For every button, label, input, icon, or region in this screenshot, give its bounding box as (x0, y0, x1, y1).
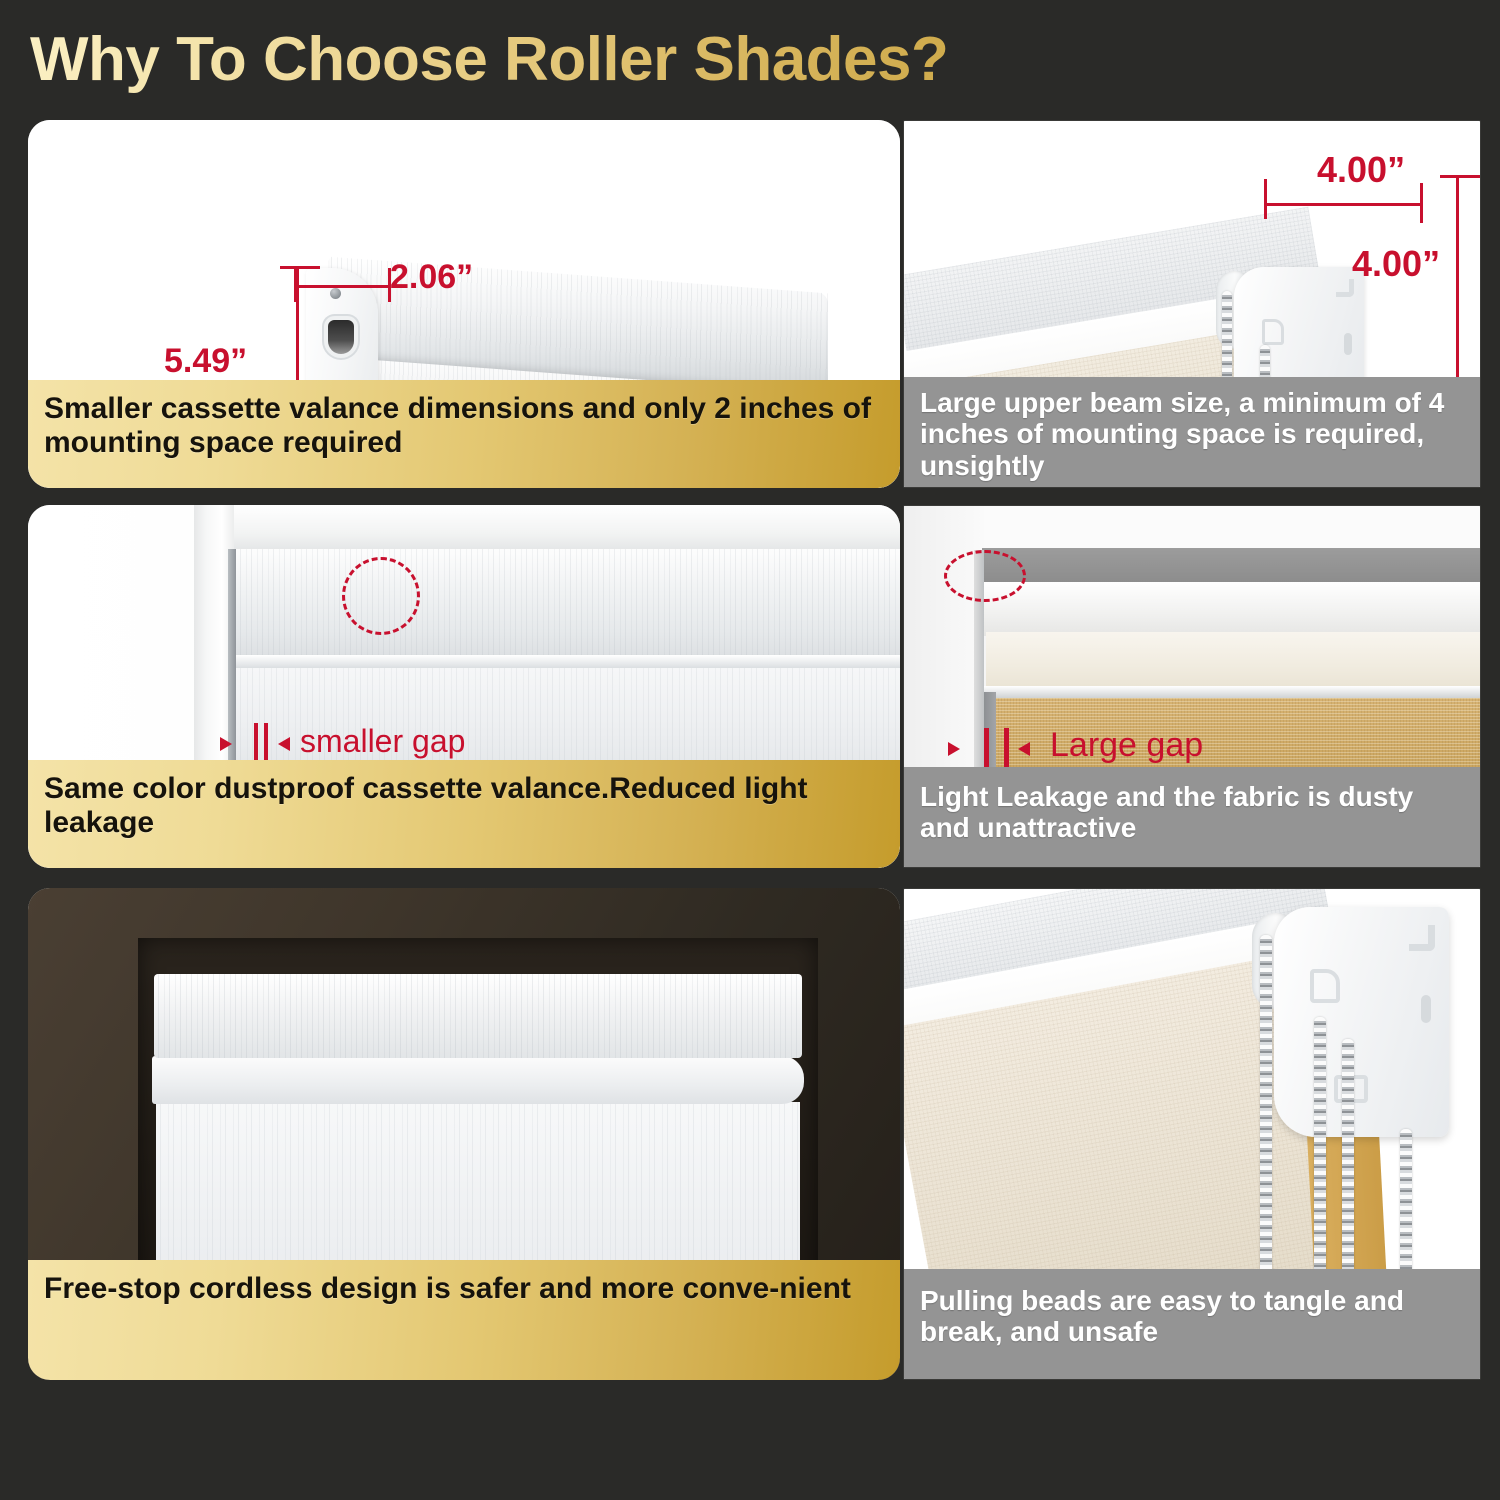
end-cap-slot (328, 320, 354, 354)
beam-width-label: 4.00” (1317, 149, 1405, 191)
bead-chain-left (1260, 935, 1272, 1277)
leak-valance (986, 632, 1480, 688)
gap-marker-right (1004, 728, 1009, 770)
cassette-valance-front (236, 549, 900, 659)
bead-chain-right (1400, 1129, 1412, 1277)
caption-pulling-beads: Pulling beads are easy to tangle and bre… (904, 1269, 1480, 1379)
gap-arrow-right-icon (1018, 742, 1030, 756)
height-dimension-label: 5.49” (164, 342, 247, 381)
caption-light-leakage: Light Leakage and the fabric is dusty an… (904, 767, 1480, 867)
infographic-root: Why To Choose Roller Shades? 2.06” 5.49” (0, 0, 1500, 1500)
panel-dustproof-cassette: smaller gap Same color dustproof cassett… (28, 505, 900, 868)
bead-chain-middle (1314, 1017, 1326, 1277)
leak-wall (904, 506, 984, 776)
bead-chain-middle-2 (1342, 1039, 1354, 1277)
gap-marker-left (984, 728, 989, 770)
valance-lip (232, 655, 900, 669)
beam-width-tick-right (1420, 183, 1423, 223)
highlight-circle-icon (342, 557, 420, 635)
leak-head-rail (982, 582, 1480, 636)
shade-roller (152, 1056, 804, 1104)
caption-large-upper-beam: Large upper beam size, a minimum of 4 in… (904, 377, 1480, 487)
smaller-gap-label: smaller gap (300, 723, 465, 760)
large-gap-label: Large gap (1050, 726, 1203, 765)
leak-valance-lip (982, 686, 1480, 698)
caption-free-stop-cordless: Free-stop cordless design is safer and m… (28, 1260, 900, 1380)
gap-marker-right (264, 723, 268, 763)
beam-width-tick-left (1264, 179, 1267, 219)
shade-cassette (154, 974, 802, 1058)
caption-cassette-valance: Smaller cassette valance dimensions and … (28, 380, 900, 488)
beam-height-label: 4.00” (1352, 243, 1440, 285)
page-title: Why To Choose Roller Shades? (30, 20, 1090, 100)
beam-height-tick-top (1440, 175, 1480, 178)
window-header (194, 505, 900, 553)
width-dimension-line (296, 285, 391, 288)
highlight-circle-icon (944, 550, 1026, 602)
gap-arrow-right-icon (278, 737, 290, 751)
gap-arrow-left-icon (220, 737, 232, 751)
height-dimension-tick-top (280, 266, 320, 269)
width-dimension-label: 2.06” (390, 258, 473, 297)
panel-light-leakage: Large gap Light Leakage and the fabric i… (903, 505, 1481, 868)
panel-free-stop-cordless: Free-stop cordless design is safer and m… (28, 888, 900, 1380)
gap-arrow-left-icon (948, 742, 960, 756)
panel-cassette-valance: 2.06” 5.49” Smaller cassette valance dim… (28, 120, 900, 488)
beam-width-dimension-line (1266, 203, 1422, 206)
panel-large-upper-beam: 4.00” 4.00” Large upper beam size, a min… (903, 120, 1481, 488)
caption-dustproof-cassette: Same color dustproof cassette valance.Re… (28, 760, 900, 868)
gap-marker-left (254, 723, 258, 763)
beads-bracket (1274, 907, 1449, 1137)
leak-ceiling-shadow (982, 548, 1480, 584)
panel-pulling-beads: Pulling beads are easy to tangle and bre… (903, 888, 1481, 1380)
